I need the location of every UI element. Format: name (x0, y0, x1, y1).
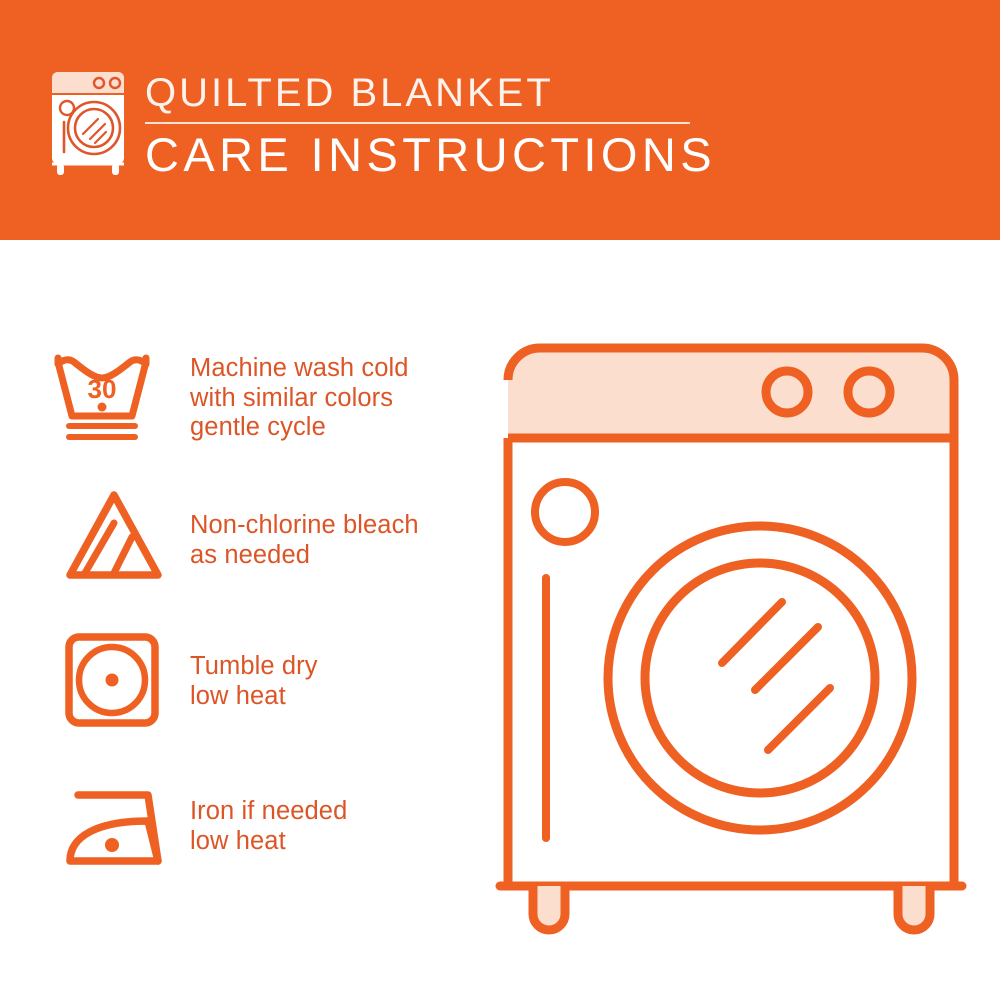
care-row-bleach: Non-chlorine bleach as needed (40, 475, 480, 620)
wash-temperature-label: 30 (88, 374, 117, 404)
machine-wash-30-gentle-icon: 30 (40, 330, 190, 448)
iron-low-heat-icon (40, 765, 190, 871)
care-instructions-infographic: QUILTED BLANKET CARE INSTRUCTIONS 30 (0, 0, 1000, 1000)
care-text-tumble-dry: Tumble dry low heat (190, 620, 480, 711)
header-banner: QUILTED BLANKET CARE INSTRUCTIONS (0, 0, 1000, 240)
drum-door-inner-ring (645, 563, 875, 793)
care-text-bleach: Non-chlorine bleach as needed (190, 475, 480, 570)
care-text-line: as needed (190, 541, 480, 571)
page-title-secondary: CARE INSTRUCTIONS (145, 128, 705, 182)
care-text-line: Non-chlorine bleach (190, 511, 480, 541)
care-row-machine-wash: 30 Machine wash cold with similar colors… (40, 330, 480, 475)
care-text-line: Iron if needed (190, 797, 480, 827)
title-divider (145, 122, 690, 124)
care-text-line: Tumble dry (190, 652, 480, 682)
drum-door-outer-ring (608, 526, 912, 830)
care-row-iron: Iron if needed low heat (40, 765, 480, 910)
care-text-machine-wash: Machine wash cold with similar colors ge… (190, 330, 480, 443)
care-text-line: gentle cycle (190, 413, 480, 443)
care-text-line: low heat (190, 682, 480, 712)
detergent-dispenser-circle (535, 482, 595, 542)
care-instruction-list: 30 Machine wash cold with similar colors… (40, 330, 480, 910)
care-text-iron: Iron if needed low heat (190, 765, 480, 856)
care-text-line: Machine wash cold (190, 354, 480, 384)
header-title-block: QUILTED BLANKET CARE INSTRUCTIONS (145, 70, 705, 182)
care-row-tumble-dry: Tumble dry low heat (40, 620, 480, 765)
care-text-line: with similar colors (190, 384, 480, 414)
washing-machine-icon (42, 66, 138, 178)
tumble-dry-low-heat-icon (40, 620, 190, 730)
page-title-primary: QUILTED BLANKET (145, 70, 705, 116)
front-load-washing-machine-illustration (490, 330, 970, 950)
care-text-line: low heat (190, 827, 480, 857)
non-chlorine-bleach-triangle-icon (40, 475, 190, 585)
motion-slash-3 (768, 688, 830, 750)
motion-slash-2 (755, 627, 818, 690)
motion-slash-1 (722, 602, 782, 663)
